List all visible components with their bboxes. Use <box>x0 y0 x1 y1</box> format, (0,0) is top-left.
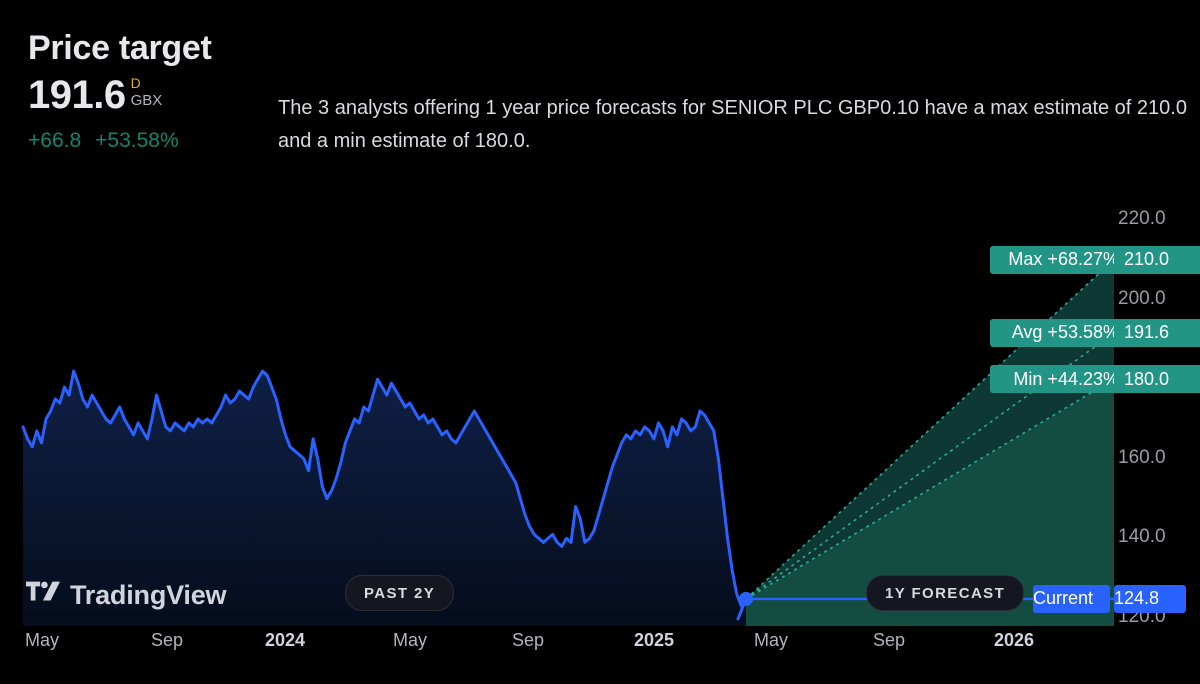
x-tick-4: Sep <box>512 630 544 651</box>
x-tick-2: 2024 <box>265 630 305 651</box>
badge-max-value[interactable]: 210.0 <box>1114 246 1200 274</box>
change-absolute: +66.8 <box>28 129 81 153</box>
badge-max-percent[interactable]: Max +68.27% <box>990 246 1128 274</box>
currency-label: GBX <box>131 93 163 108</box>
tradingview-branding: TradingView <box>26 580 226 611</box>
badge-current-value[interactable]: 124.8 <box>1114 585 1186 613</box>
price-row: 191.6 D GBX <box>28 75 278 119</box>
tradingview-logo-icon <box>26 581 60 610</box>
badge-min-value[interactable]: 180.0 <box>1114 365 1200 393</box>
badge-current-label[interactable]: Current <box>1033 585 1110 613</box>
x-tick-5: 2025 <box>634 630 674 651</box>
pill-past-2y[interactable]: PAST 2Y <box>345 575 454 611</box>
change-row: +66.8 +53.58% <box>28 129 278 153</box>
price-target-widget: Price target 191.6 D GBX +66.8 +53.58% T… <box>0 0 1200 684</box>
change-percent: +53.58% <box>95 129 179 153</box>
interval-badge: D <box>131 76 163 90</box>
y-tick-220: 220.0 <box>1118 208 1166 230</box>
header: Price target 191.6 D GBX +66.8 +53.58% T… <box>0 0 1200 200</box>
x-tick-0: May <box>25 630 59 651</box>
y-tick-140: 140.0 <box>1118 526 1166 548</box>
tradingview-logo-text: TradingView <box>70 580 226 611</box>
pill-1y-forecast[interactable]: 1Y FORECAST <box>866 575 1024 611</box>
x-tick-3: May <box>393 630 427 651</box>
y-tick-200: 200.0 <box>1118 288 1166 310</box>
x-tick-8: 2026 <box>994 630 1034 651</box>
badge-avg-percent[interactable]: Avg +53.58% <box>990 319 1128 347</box>
x-tick-6: May <box>754 630 788 651</box>
y-tick-160: 160.0 <box>1118 447 1166 469</box>
forecast-description: The 3 analysts offering 1 year price for… <box>278 92 1193 158</box>
badge-avg-value[interactable]: 191.6 <box>1114 319 1200 347</box>
current-price-marker <box>739 592 753 606</box>
x-tick-7: Sep <box>873 630 905 651</box>
x-axis: May Sep 2024 May Sep 2025 May Sep 2026 <box>0 630 1200 670</box>
page-title: Price target <box>28 30 278 67</box>
price-value: 191.6 <box>28 75 126 115</box>
badge-min-percent[interactable]: Min +44.23% <box>990 365 1128 393</box>
header-summary: Price target 191.6 D GBX +66.8 +53.58% <box>28 30 278 153</box>
price-unit-group: D GBX <box>131 75 163 108</box>
x-tick-1: Sep <box>151 630 183 651</box>
